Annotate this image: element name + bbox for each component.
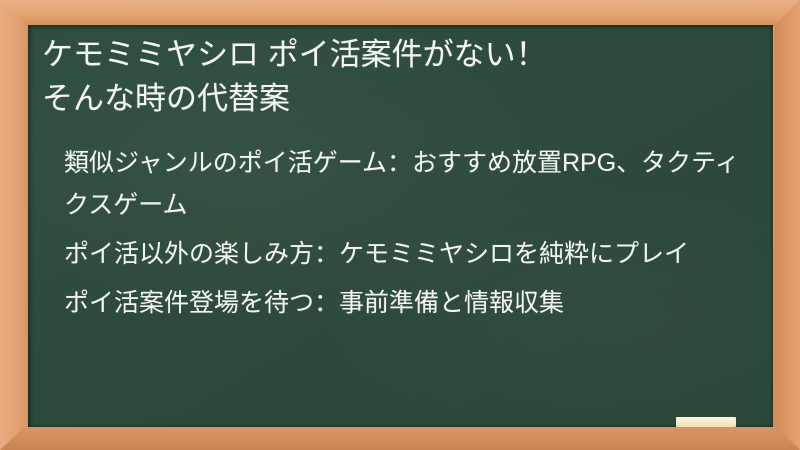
list-item: ポイ活以外の楽しみ方：ケモミミヤシロを純粋にプレイ <box>38 233 757 275</box>
chalk-stick-icon <box>676 417 736 427</box>
board-content: ケモミミヤシロ ポイ活案件がない！ そんな時の代替案 類似ジャンルのポイ活ゲーム… <box>28 25 773 427</box>
frame-bevel-left <box>0 0 30 450</box>
topic-list: 類似ジャンルのポイ活ゲーム：おすすめ放置RPG、タクティクスゲーム ポイ活以外の… <box>38 142 757 324</box>
chalkboard-frame: ケモミミヤシロ ポイ活案件がない！ そんな時の代替案 類似ジャンルのポイ活ゲーム… <box>0 0 800 450</box>
frame-bevel-bottom <box>0 424 800 450</box>
frame-bevel-top <box>0 0 800 27</box>
page-title: ケモミミヤシロ ポイ活案件がない！ そんな時の代替案 <box>38 33 757 121</box>
list-item: 類似ジャンルのポイ活ゲーム：おすすめ放置RPG、タクティクスゲーム <box>38 142 757 226</box>
frame-bevel-right <box>770 0 800 450</box>
chalkboard-surface: ケモミミヤシロ ポイ活案件がない！ そんな時の代替案 類似ジャンルのポイ活ゲーム… <box>28 25 773 427</box>
list-item: ポイ活案件登場を待つ：事前準備と情報収集 <box>38 282 757 324</box>
